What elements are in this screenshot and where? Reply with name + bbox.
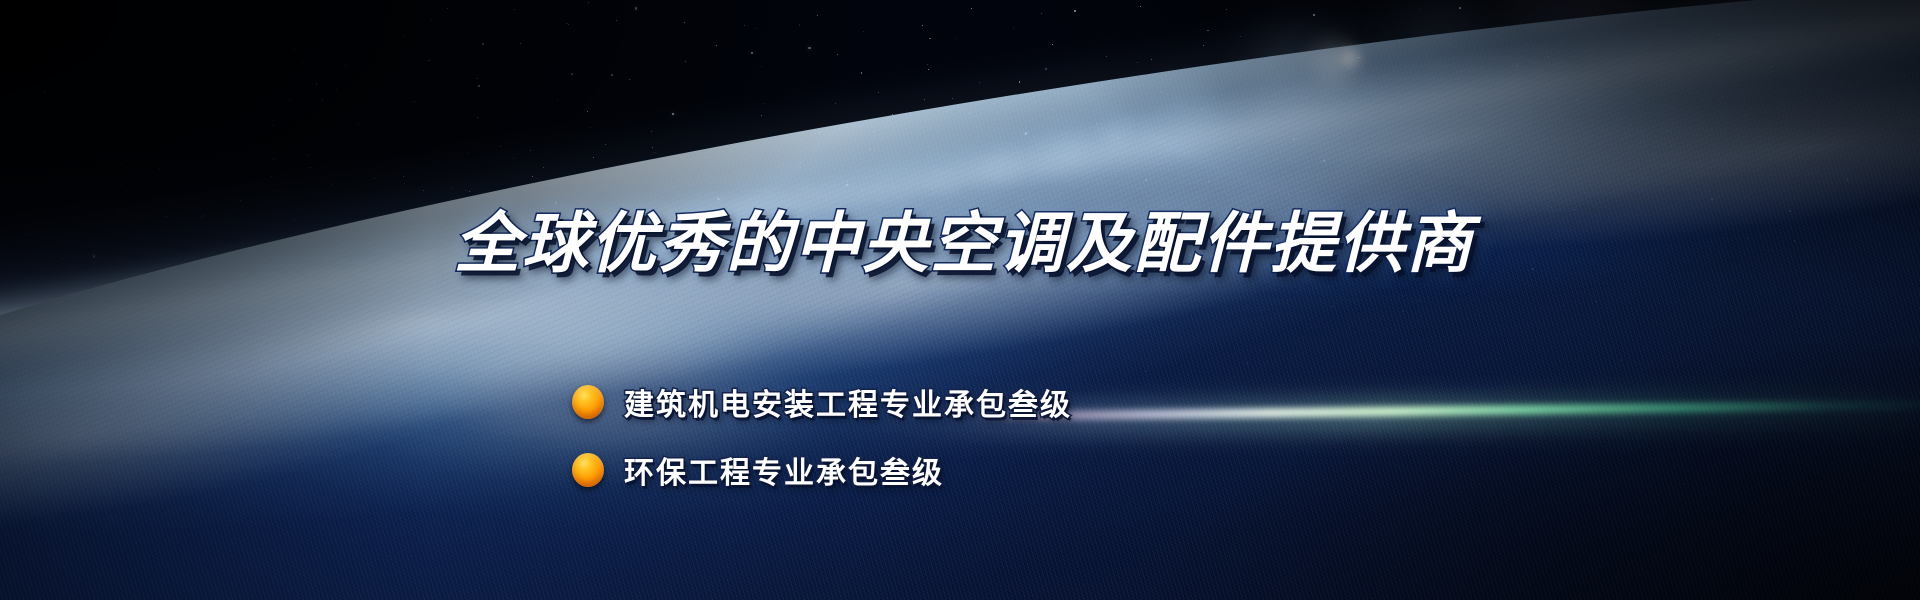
orange-sphere-bullet-icon [572,385,604,419]
hero-banner: 全球优秀的中央空调及配件提供商 建筑机电安装工程专业承包叁级 环保工程专业承包叁… [0,0,1920,600]
list-item-label: 环保工程专业承包叁级 [624,448,944,492]
banner-content: 全球优秀的中央空调及配件提供商 建筑机电安装工程专业承包叁级 环保工程专业承包叁… [0,0,1920,600]
list-item-label: 建筑机电安装工程专业承包叁级 [624,380,1072,424]
orange-sphere-bullet-icon [572,453,604,487]
qualification-list: 建筑机电安装工程专业承包叁级 环保工程专业承包叁级 [572,380,1072,516]
list-item: 环保工程专业承包叁级 [572,448,1072,492]
banner-headline: 全球优秀的中央空调及配件提供商 [454,205,1474,283]
list-item: 建筑机电安装工程专业承包叁级 [572,380,1072,424]
